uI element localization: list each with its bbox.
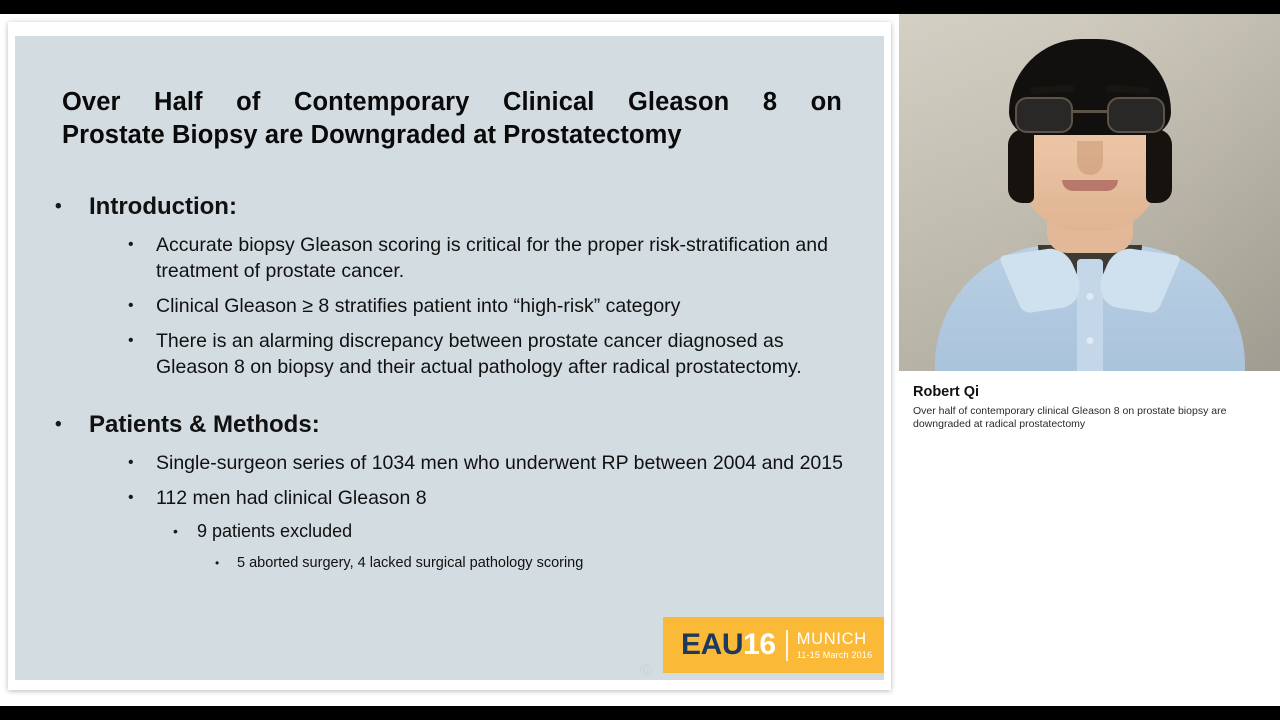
bullet-text: There is an alarming discrepancy between…: [156, 328, 855, 380]
section-heading-label: Patients & Methods:: [89, 408, 855, 441]
section-spacer: [55, 380, 855, 400]
speaker-name: Robert Qi: [913, 383, 1266, 401]
eau-logo-city: MUNICH: [797, 630, 873, 648]
bullet-glyph-icon: •: [128, 485, 156, 511]
bullet-item: • There is an alarming discrepancy betwe…: [55, 328, 855, 380]
glasses-lens-left: [1015, 97, 1073, 133]
bullet-glyph-icon: •: [128, 232, 156, 284]
bullet-text: Accurate biopsy Gleason scoring is criti…: [156, 232, 855, 284]
bullet-glyph-icon: •: [128, 293, 156, 319]
bullet-item: • Clinical Gleason ≥ 8 stratifies patien…: [55, 293, 855, 319]
bullet-text: 112 men had clinical Gleason 8: [156, 485, 855, 511]
letterbox-bar-bottom: [0, 706, 1280, 720]
shirt-button-icon: [1086, 293, 1093, 300]
speaker-hair-side-left: [1008, 129, 1034, 203]
glasses-bridge: [1073, 110, 1107, 113]
bullet-glyph-icon: •: [215, 553, 237, 574]
speaker-video[interactable]: [899, 14, 1280, 371]
slide-card[interactable]: Over Half of Contemporary Clinical Gleas…: [8, 22, 891, 690]
shirt-button-icon: [1086, 337, 1093, 344]
bullet-text: 9 patients excluded: [197, 519, 855, 544]
speaker-talk-title: Over half of contemporary clinical Gleas…: [913, 405, 1253, 431]
bullet-item-sub: • 9 patients excluded: [55, 519, 855, 544]
eau-logo-mark: EAU16: [681, 630, 776, 660]
slide-stage[interactable]: Over Half of Contemporary Clinical Gleas…: [0, 14, 899, 706]
slide-title: Over Half of Contemporary Clinical Gleas…: [62, 86, 842, 152]
speaker-info: Robert Qi Over half of contemporary clin…: [899, 371, 1280, 431]
slide-title-line-2: Prostate Biopsy are Downgraded at Prosta…: [62, 119, 842, 152]
bullet-item: • 112 men had clinical Gleason 8: [55, 485, 855, 511]
eau-logo-divider-icon: [786, 630, 788, 661]
eau-logo-dates: 11-15 March 2016: [797, 649, 873, 661]
bullet-text: Single-surgeon series of 1034 men who un…: [156, 450, 855, 476]
section-heading-patients-methods: • Patients & Methods:: [55, 408, 855, 441]
copyright-watermark: ©: [640, 662, 652, 680]
eau-logo-venue: MUNICH 11-15 March 2016: [797, 630, 873, 661]
speaker-nose: [1077, 141, 1103, 175]
speaker-mouth: [1062, 180, 1118, 191]
bullet-item: • Single-surgeon series of 1034 men who …: [55, 450, 855, 476]
speaker-panel: Robert Qi Over half of contemporary clin…: [899, 14, 1280, 706]
letterbox-bar-top: [0, 0, 1280, 14]
bullet-glyph-icon: •: [128, 328, 156, 380]
speaker-shirt-placket: [1077, 259, 1103, 371]
bullet-glyph-icon: •: [55, 408, 89, 441]
glasses-lens-right: [1107, 97, 1165, 133]
speaker-glasses-icon: [1015, 97, 1165, 135]
bullet-glyph-icon: •: [55, 190, 89, 223]
presentation-viewer: Over Half of Contemporary Clinical Gleas…: [0, 0, 1280, 720]
section-heading-introduction: • Introduction:: [55, 190, 855, 223]
bullet-text: Clinical Gleason ≥ 8 stratifies patient …: [156, 293, 855, 319]
bullet-item: • Accurate biopsy Gleason scoring is cri…: [55, 232, 855, 284]
slide-body: • Introduction: • Accurate biopsy Gleaso…: [55, 182, 855, 574]
eau-logo-letters: EAU: [681, 628, 743, 661]
bullet-glyph-icon: •: [173, 519, 197, 544]
eau16-congress-logo: EAU16 MUNICH 11-15 March 2016: [663, 617, 884, 673]
bullet-text: 5 aborted surgery, 4 lacked surgical pat…: [237, 553, 855, 574]
slide-canvas: Over Half of Contemporary Clinical Gleas…: [15, 36, 884, 680]
bullet-item-sub-sub: • 5 aborted surgery, 4 lacked surgical p…: [55, 553, 855, 574]
section-heading-label: Introduction:: [89, 190, 855, 223]
speaker-hair-side-right: [1146, 129, 1172, 203]
slide-title-line-1: Over Half of Contemporary Clinical Gleas…: [62, 86, 842, 119]
eau-logo-year: 16: [743, 628, 776, 661]
bullet-glyph-icon: •: [128, 450, 156, 476]
